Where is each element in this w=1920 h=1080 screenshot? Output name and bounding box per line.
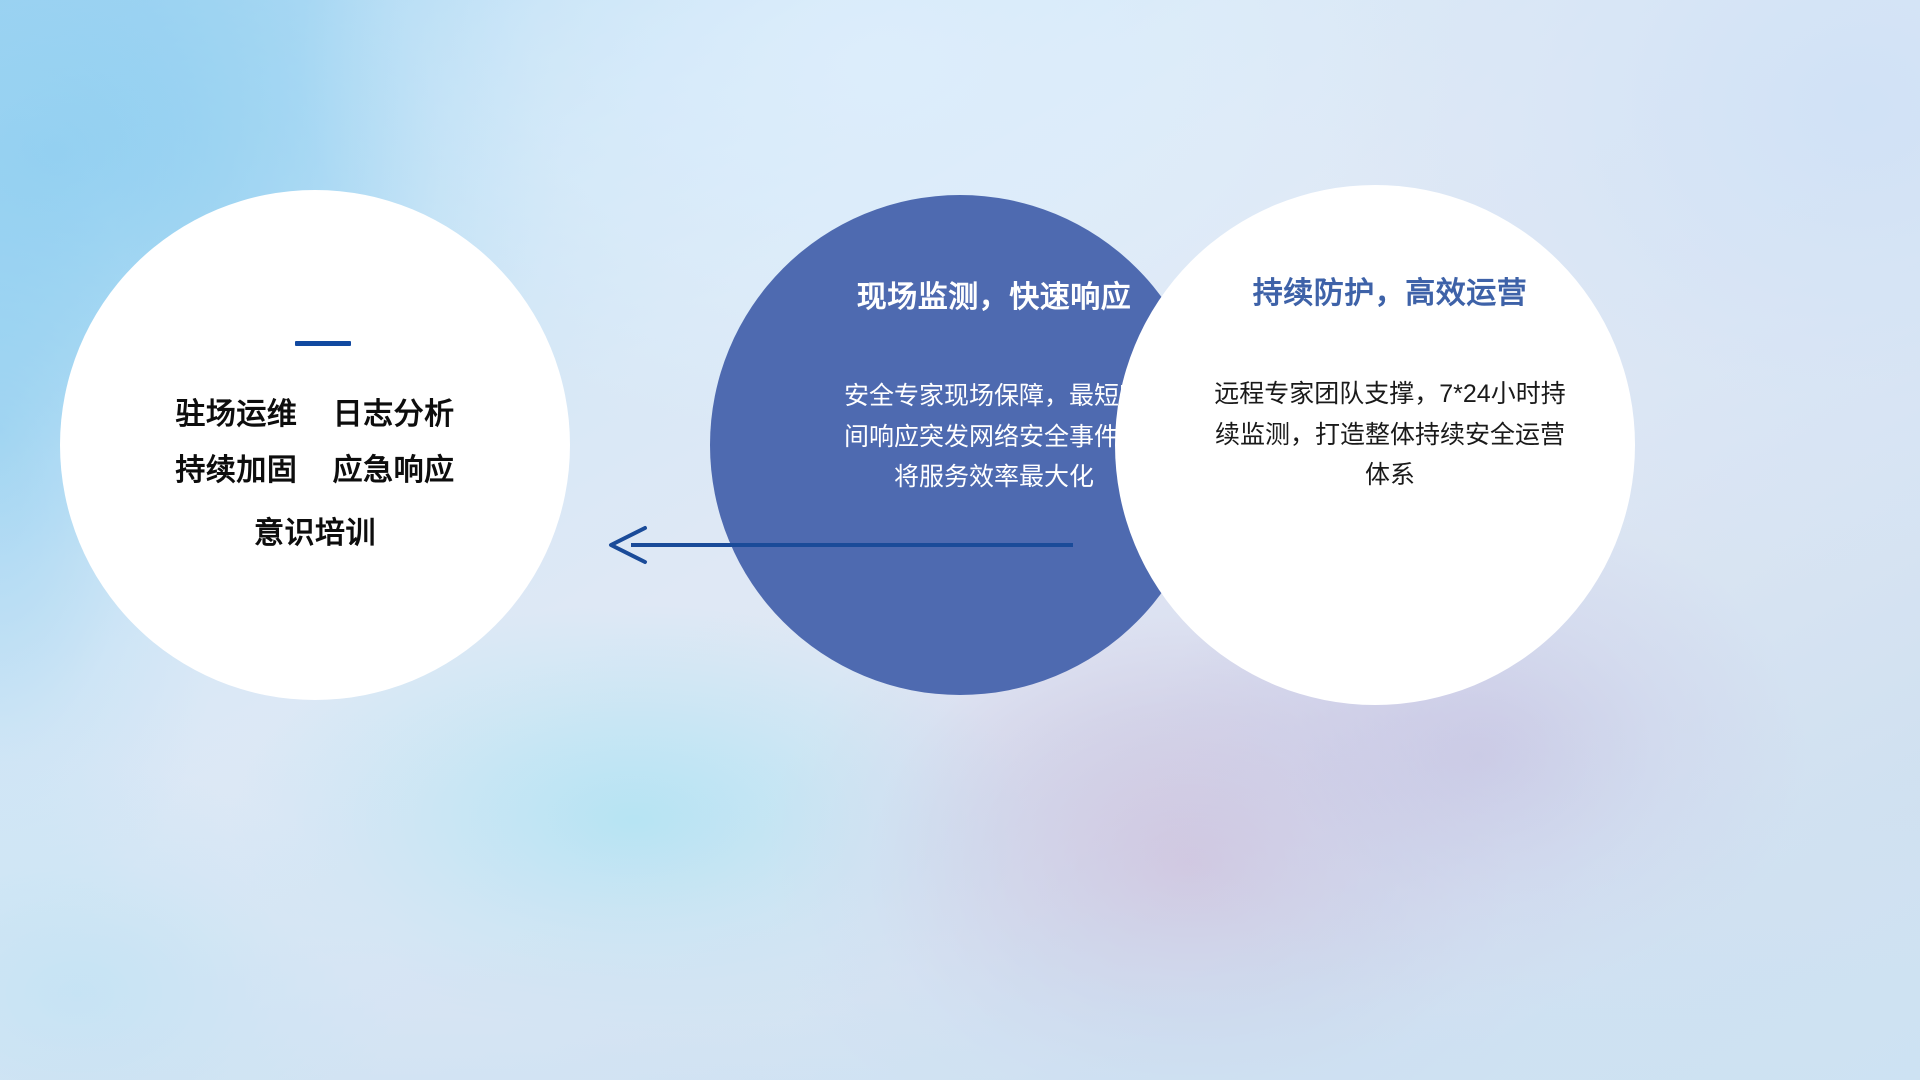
left-keyword-line-2: 持续加固 应急响应: [175, 456, 454, 487]
left-circle-content: 驻场运维 日志分析 持续加固 应急响应 意识培训: [60, 190, 570, 700]
right-circle-body-text: 远程专家团队支撑，7*24小时持续监测，打造整体持续安全运营体系: [1205, 374, 1575, 496]
middle-circle-heading: 现场监测，快速响应: [857, 281, 1132, 314]
slide-canvas: 驻场运维 日志分析 持续加固 应急响应 意识培训 现场监测，快速响应 安全专家现…: [0, 0, 1920, 1080]
left-divider-rule: [295, 341, 351, 346]
right-circle-content: 持续防护，高效运营 远程专家团队支撑，7*24小时持续监测，打造整体持续安全运营…: [1115, 185, 1635, 705]
right-operations-circle[interactable]: 持续防护，高效运营 远程专家团队支撑，7*24小时持续监测，打造整体持续安全运营…: [1115, 185, 1635, 705]
left-pointing-arrow-icon: [595, 518, 1075, 572]
right-circle-heading: 持续防护，高效运营: [1253, 277, 1528, 310]
middle-circle-body-text: 安全专家现场保障，最短时间响应突发网络安全事件，将服务效率最大化: [839, 376, 1149, 498]
left-keyword-line-1: 驻场运维 日志分析: [175, 400, 454, 431]
left-keyword-line-3: 意识培训: [254, 519, 376, 550]
left-summary-circle[interactable]: 驻场运维 日志分析 持续加固 应急响应 意识培训: [60, 190, 570, 700]
